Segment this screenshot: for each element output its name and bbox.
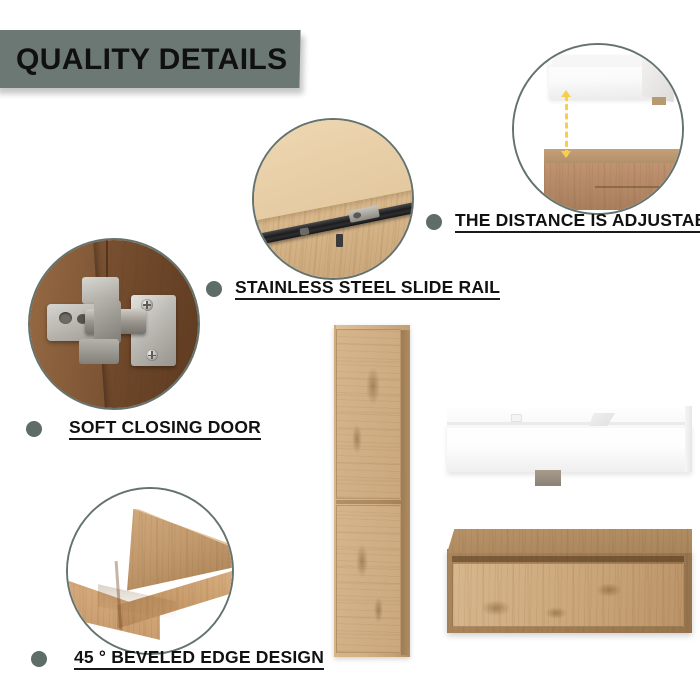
tall-cabinet-door-gap xyxy=(336,500,401,504)
caption-distance-adjustable: THE DISTANCE IS ADJUSTABLE xyxy=(426,211,700,233)
wood-knot xyxy=(366,367,380,405)
screw-icon xyxy=(146,349,158,361)
caption-slide-rail: STAINLESS STEEL SLIDE RAIL xyxy=(206,278,500,300)
bullet-icon xyxy=(206,281,222,297)
caption-label-distance-adjustable: THE DISTANCE IS ADJUSTABLE xyxy=(455,211,700,233)
tall-cabinet-lower-door xyxy=(336,505,401,653)
distance-dashed-line xyxy=(565,95,568,155)
counter-seam-line xyxy=(595,186,684,188)
wood-knot xyxy=(545,607,567,619)
bullet-icon xyxy=(426,214,442,230)
tall-cabinet-side-panel xyxy=(401,327,410,655)
soft-close-hinge-photo xyxy=(28,238,200,410)
distance-arrow-down-icon xyxy=(561,151,571,158)
bullet-icon xyxy=(31,651,47,667)
hinge-knuckle xyxy=(94,300,121,344)
basin-right-edge xyxy=(685,406,692,472)
cabinet-grain-texture xyxy=(337,506,400,652)
product-tall-side-cabinet xyxy=(334,325,410,657)
vanity-drawer-front xyxy=(452,563,684,627)
hinge-lower-tab xyxy=(79,339,119,364)
caption-label-beveled-edge: 45 ° BEVELED EDGE DESIGN xyxy=(74,648,324,670)
basin-side-face xyxy=(642,58,674,102)
faucet-hole xyxy=(511,414,522,422)
caption-label-slide-rail: STAINLESS STEEL SLIDE RAIL xyxy=(235,278,500,300)
vanity-drawer-gap xyxy=(452,556,684,562)
rail-clip xyxy=(336,234,343,247)
bullet-icon xyxy=(26,421,42,437)
hinge-cup-hole xyxy=(59,312,72,324)
product-wall-vanity xyxy=(447,529,692,639)
slide-rail-photo xyxy=(252,118,414,280)
caption-label-soft-closing-door: SOFT CLOSING DOOR xyxy=(69,418,261,440)
infographic-canvas: QUALITY DETAILS xyxy=(0,0,700,700)
wood-knot xyxy=(596,583,622,597)
vanity-top-surface xyxy=(447,529,692,553)
adjustable-distance-photo xyxy=(512,43,684,215)
vanity-top-grain-texture xyxy=(447,529,692,553)
basin-body xyxy=(447,424,692,472)
basin-front-lip xyxy=(447,422,692,425)
soft-close-hinge-image xyxy=(30,240,198,408)
adjustable-distance-image xyxy=(514,45,682,213)
basin-drain-pipe xyxy=(535,470,561,486)
wood-knot xyxy=(374,597,383,623)
tall-cabinet-upper-door xyxy=(336,329,401,499)
page-title: QUALITY DETAILS xyxy=(16,38,316,82)
caption-beveled-edge: 45 ° BEVELED EDGE DESIGN xyxy=(31,648,324,670)
slide-rail-image xyxy=(254,120,412,278)
product-white-basin xyxy=(447,406,692,484)
beveled-edge-photo xyxy=(66,487,234,655)
mounting-bracket xyxy=(652,97,666,105)
wood-knot xyxy=(352,424,362,454)
wood-knot xyxy=(356,544,368,578)
drawer-grain-texture xyxy=(453,564,683,626)
beveled-edge-image xyxy=(68,489,232,653)
caption-soft-closing-door: SOFT CLOSING DOOR xyxy=(26,418,261,440)
cabinet-grain-texture xyxy=(337,330,400,498)
wood-knot xyxy=(481,600,511,616)
